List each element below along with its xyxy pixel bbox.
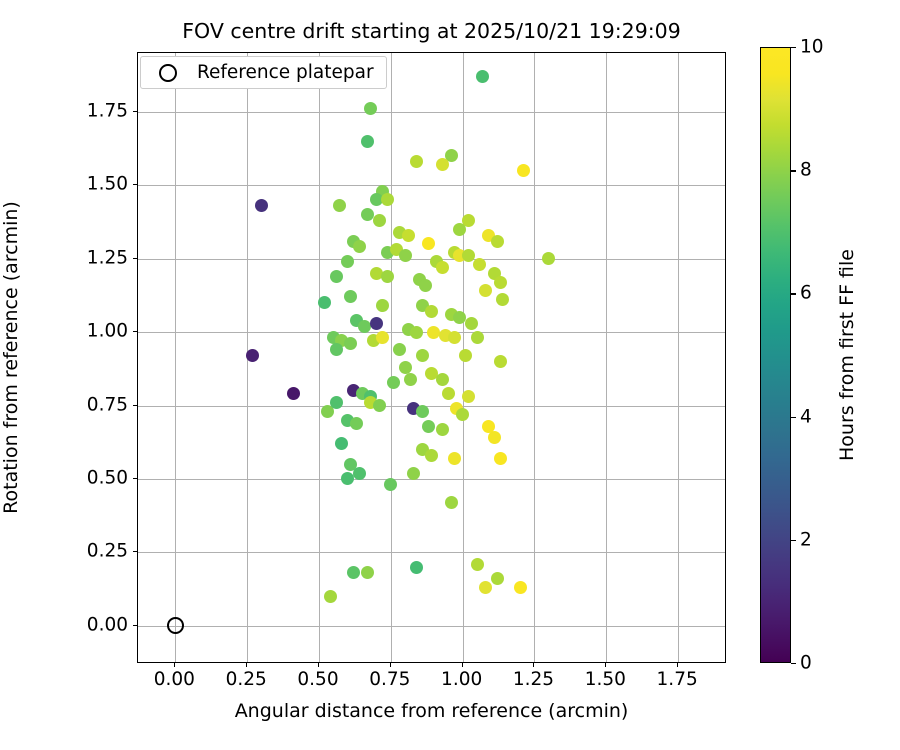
x-tick-mark — [390, 663, 391, 667]
x-tick-label: 0.25 — [226, 669, 267, 690]
y-tick-label: 0.50 — [87, 467, 128, 488]
colorbar-tick-mark — [791, 47, 796, 48]
y-tick-mark — [133, 478, 137, 479]
reference-marker-layer — [138, 53, 725, 662]
y-tick-mark — [133, 184, 137, 185]
page-title: FOV centre drift starting at 2025/10/21 … — [137, 18, 726, 44]
y-tick-label: 0.25 — [87, 541, 128, 562]
colorbar-tick-mark — [791, 663, 796, 664]
colorbar[interactable] — [760, 47, 791, 663]
x-tick-label: 0.00 — [154, 669, 195, 690]
y-tick-label: 1.25 — [87, 247, 128, 268]
colorbar-tick-mark — [791, 170, 796, 171]
x-tick-mark — [246, 663, 247, 667]
y-tick-mark — [133, 405, 137, 406]
y-tick-label: 1.50 — [87, 174, 128, 195]
y-axis-label: Rotation from reference (arcmin) — [0, 52, 28, 663]
figure-canvas: FOV centre drift starting at 2025/10/21 … — [0, 0, 900, 750]
x-tick-mark — [677, 663, 678, 667]
y-tick-mark — [133, 551, 137, 552]
x-tick-mark — [605, 663, 606, 667]
x-tick-label: 1.25 — [513, 669, 554, 690]
colorbar-tick-label: 0 — [800, 653, 812, 674]
colorbar-tick-label: 4 — [800, 406, 812, 427]
x-tick-label: 1.00 — [441, 669, 482, 690]
colorbar-tick-label: 10 — [800, 37, 824, 58]
y-tick-mark — [133, 625, 137, 626]
x-tick-mark — [533, 663, 534, 667]
x-tick-label: 1.75 — [657, 669, 698, 690]
legend[interactable]: Reference platepar — [140, 56, 387, 89]
reference-platepar-marker[interactable] — [167, 617, 184, 634]
colorbar-tick-mark — [791, 540, 796, 541]
colorbar-tick-mark — [791, 417, 796, 418]
y-tick-mark — [133, 111, 137, 112]
colorbar-label: Hours from first FF file — [836, 47, 862, 663]
x-tick-mark — [318, 663, 319, 667]
x-tick-label: 1.50 — [585, 669, 626, 690]
colorbar-gradient — [761, 48, 790, 662]
x-tick-mark — [174, 663, 175, 667]
colorbar-tick-label: 2 — [800, 529, 812, 550]
colorbar-tick-label: 6 — [800, 283, 812, 304]
plot-area[interactable] — [137, 52, 726, 663]
y-tick-mark — [133, 258, 137, 259]
legend-open-circle-icon — [159, 64, 177, 82]
legend-item-label: Reference platepar — [197, 62, 374, 83]
y-tick-label: 0.00 — [87, 614, 128, 635]
y-tick-label: 1.00 — [87, 321, 128, 342]
x-tick-label: 0.50 — [297, 669, 338, 690]
x-tick-label: 0.75 — [369, 669, 410, 690]
x-axis-label: Angular distance from reference (arcmin) — [137, 700, 726, 722]
colorbar-tick-label: 8 — [800, 160, 812, 181]
x-tick-mark — [462, 663, 463, 667]
colorbar-tick-mark — [791, 293, 796, 294]
y-tick-mark — [133, 331, 137, 332]
y-tick-label: 1.75 — [87, 100, 128, 121]
y-tick-label: 0.75 — [87, 394, 128, 415]
